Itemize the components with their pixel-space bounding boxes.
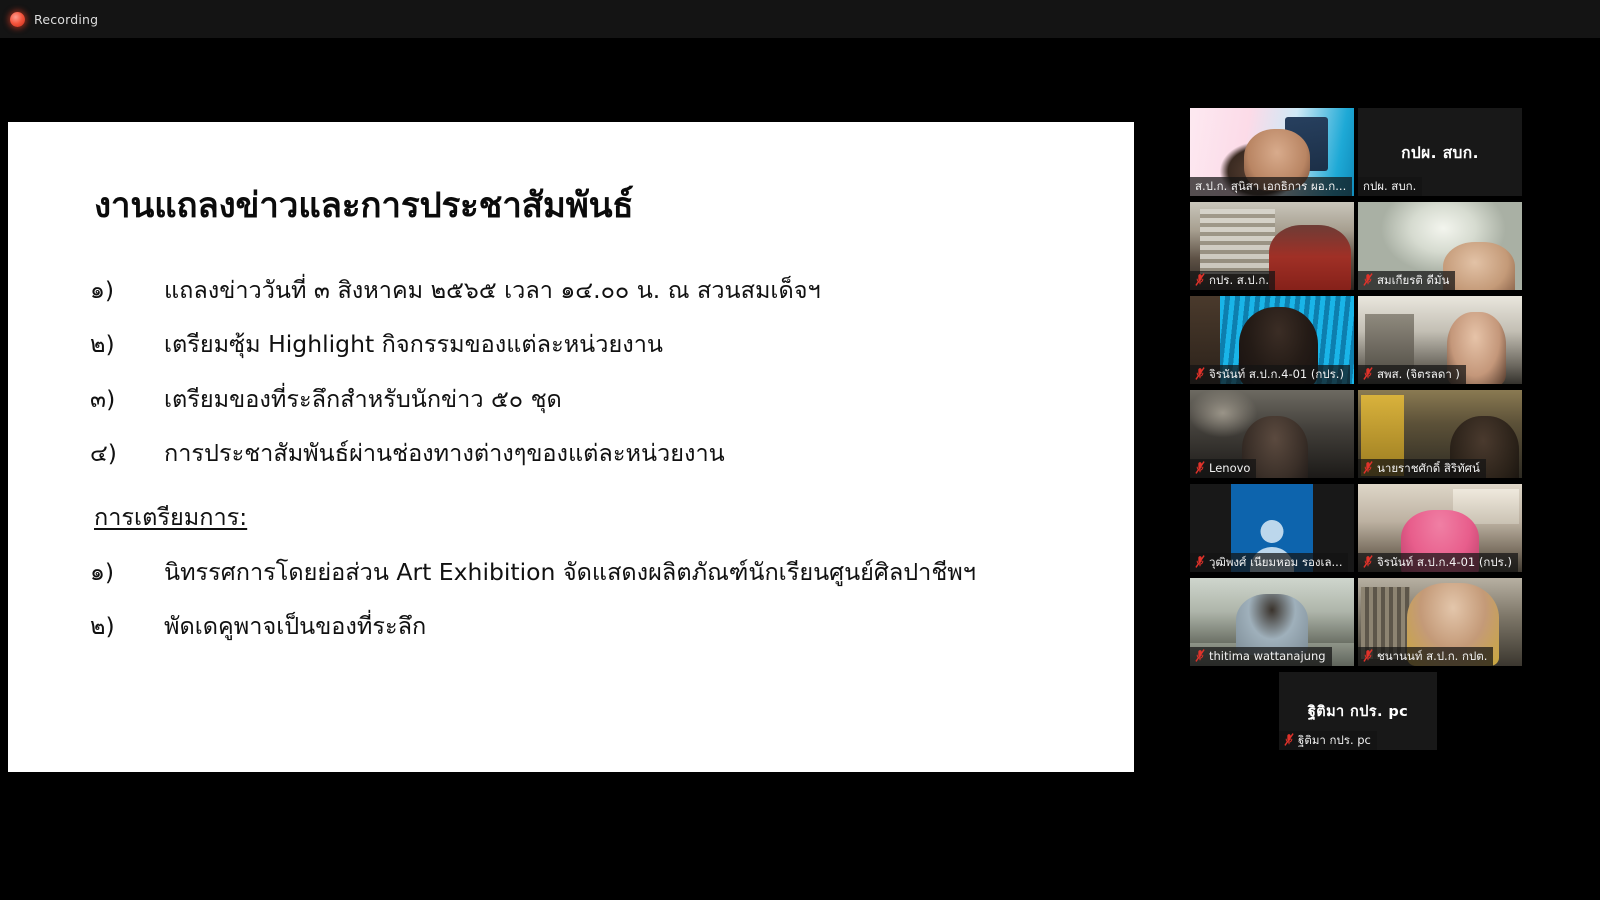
participant-tile-row: กปร. ส.ป.ก.สมเกียรติ ดีมั่น — [1190, 202, 1526, 290]
participant-name: ฐิติมา กปร. pc — [1298, 733, 1371, 747]
participant-tile[interactable]: นายราชศักดิ์ สิริทัศน์ — [1358, 390, 1522, 478]
participant-tile[interactable]: จิรนันท์ ส.ป.ก.4-01 (กปร.) — [1358, 484, 1522, 572]
participant-name-strip: สมเกียรติ ดีมั่น — [1358, 271, 1455, 290]
mic-muted-icon — [1195, 461, 1205, 474]
participant-tile[interactable]: สพส. (จิตรลดา ) — [1358, 296, 1522, 384]
participant-name: ชนานนท์ ส.ป.ก. กปต. — [1377, 649, 1487, 663]
slide-bullet-item: ๒) เตรียมซุ้ม Highlight กิจกรรมของแต่ละห… — [90, 329, 1082, 360]
participant-name-strip: ฐิติมา กปร. pc — [1279, 731, 1377, 750]
slide-bullet-item: ๑) นิทรรศการโดยย่อส่วน Art Exhibition จั… — [90, 557, 1082, 588]
mic-muted-icon — [1195, 367, 1205, 380]
bullet-text: แถลงข่าววันที่ ๓ สิงหาคม ๒๕๖๕ เวลา ๑๔.๐๐… — [164, 275, 1082, 306]
bullet-text: การประชาสัมพันธ์ผ่านช่องทางต่างๆของแต่ละ… — [164, 438, 1082, 469]
mic-muted-icon — [1363, 555, 1373, 568]
slide-bullet-item: ๔) การประชาสัมพันธ์ผ่านช่องทางต่างๆของแต… — [90, 438, 1082, 469]
participant-name: จิรนันท์ ส.ป.ก.4-01 (กปร.) — [1377, 555, 1512, 569]
participant-tile[interactable]: กปผ. สบก.กปผ. สบก. — [1358, 108, 1522, 196]
recording-indicator-bar: Recording — [0, 0, 1600, 38]
meeting-window: Recording งานแถลงข่าวและการประชาสัมพันธ์… — [0, 0, 1600, 900]
slide-title: งานแถลงข่าวและการประชาสัมพันธ์ — [94, 184, 1082, 229]
bullet-marker: ๓) — [90, 384, 164, 415]
bullet-marker: ๑) — [90, 557, 164, 588]
mic-muted-icon — [1363, 273, 1373, 286]
shared-screen-region[interactable]: งานแถลงข่าวและการประชาสัมพันธ์ ๑) แถลงข่… — [8, 122, 1134, 772]
participant-tile[interactable]: วุฒิพงศ์ เนียมหอม รองเล... — [1190, 484, 1354, 572]
mic-muted-icon — [1363, 367, 1373, 380]
mic-muted-icon — [1363, 461, 1373, 474]
mic-muted-icon — [1363, 649, 1373, 662]
participant-name: กปร. ส.ป.ก. — [1209, 273, 1269, 287]
bullet-marker: ๑) — [90, 275, 164, 306]
bullet-marker: ๔) — [90, 438, 164, 469]
participant-tile-row: thitima wattanajungชนานนท์ ส.ป.ก. กปต. — [1190, 578, 1526, 666]
mic-muted-icon — [1195, 649, 1205, 662]
participant-name: กปผ. สบก. — [1363, 179, 1416, 193]
participant-tile[interactable]: ฐิติมา กปร. pcฐิติมา กปร. pc — [1279, 672, 1437, 750]
mic-muted-icon — [1284, 733, 1294, 746]
participant-name-strip: กปร. ส.ป.ก. — [1190, 271, 1275, 290]
participant-tile-row: Lenovoนายราชศักดิ์ สิริทัศน์ — [1190, 390, 1526, 478]
bullet-text: เตรียมซุ้ม Highlight กิจกรรมของแต่ละหน่ว… — [164, 329, 1082, 360]
participant-tile[interactable]: ชนานนท์ ส.ป.ก. กปต. — [1358, 578, 1522, 666]
slide-bullet-item: ๑) แถลงข่าววันที่ ๓ สิงหาคม ๒๕๖๕ เวลา ๑๔… — [90, 275, 1082, 306]
participant-tile[interactable]: กปร. ส.ป.ก. — [1190, 202, 1354, 290]
slide-section-heading: การเตรียมการ: — [94, 499, 247, 536]
participant-name: Lenovo — [1209, 461, 1250, 475]
participant-tile-row: ส.ป.ก. สุนิสา เอกธิการ ผอ.ก...กปผ. สบก.ก… — [1190, 108, 1526, 196]
slide-bullet-item: ๒) พัดเดคูพาจเป็นของที่ระลึก — [90, 611, 1082, 642]
participant-tile[interactable]: สมเกียรติ ดีมั่น — [1358, 202, 1522, 290]
bullet-marker: ๒) — [90, 329, 164, 360]
participant-name: thitima wattanajung — [1209, 649, 1326, 663]
participant-tile-row: จิรนันท์ ส.ป.ก.4-01 (กปร.)สพส. (จิตรลดา … — [1190, 296, 1526, 384]
participant-name-strip: จิรนันท์ ส.ป.ก.4-01 (กปร.) — [1358, 553, 1518, 572]
participant-name-strip: จิรนันท์ ส.ป.ก.4-01 (กปร.) — [1190, 365, 1350, 384]
participant-name-strip: วุฒิพงศ์ เนียมหอม รองเล... — [1190, 553, 1348, 572]
mic-muted-icon — [1195, 555, 1205, 568]
recording-dot-icon — [10, 12, 25, 27]
participant-name: สพส. (จิตรลดา ) — [1377, 367, 1460, 381]
participant-tile-grid: ส.ป.ก. สุนิสา เอกธิการ ผอ.ก...กปผ. สบก.ก… — [1190, 108, 1526, 666]
slide-bullet-item: ๓) เตรียมของที่ระลึกสำหรับนักข่าว ๕๐ ชุด — [90, 384, 1082, 415]
participant-name: สมเกียรติ ดีมั่น — [1377, 273, 1449, 287]
participant-gallery[interactable]: ส.ป.ก. สุนิสา เอกธิการ ผอ.ก...กปผ. สบก.ก… — [1190, 108, 1526, 788]
mic-muted-icon — [1195, 273, 1205, 286]
participant-name-strip: Lenovo — [1190, 459, 1256, 478]
participant-name-strip: กปผ. สบก. — [1358, 177, 1422, 196]
presentation-slide: งานแถลงข่าวและการประชาสัมพันธ์ ๑) แถลงข่… — [8, 122, 1134, 772]
participant-name-strip: นายราชศักดิ์ สิริทัศน์ — [1358, 459, 1486, 478]
participant-tile[interactable]: Lenovo — [1190, 390, 1354, 478]
participant-name: วุฒิพงศ์ เนียมหอม รองเล... — [1209, 555, 1342, 569]
participant-tile-row-last: ฐิติมา กปร. pcฐิติมา กปร. pc — [1190, 672, 1526, 750]
bullet-marker: ๒) — [90, 611, 164, 642]
participant-tile[interactable]: ส.ป.ก. สุนิสา เอกธิการ ผอ.ก... — [1190, 108, 1354, 196]
bullet-text: พัดเดคูพาจเป็นของที่ระลึก — [164, 611, 1082, 642]
slide-preparation-list: ๑) นิทรรศการโดยย่อส่วน Art Exhibition จั… — [90, 557, 1082, 643]
recording-label: Recording — [34, 12, 98, 27]
participant-name: นายราชศักดิ์ สิริทัศน์ — [1377, 461, 1480, 475]
participant-tile-row: วุฒิพงศ์ เนียมหอม รองเล...จิรนันท์ ส.ป.ก… — [1190, 484, 1526, 572]
slide-bullet-list: ๑) แถลงข่าววันที่ ๓ สิงหาคม ๒๕๖๕ เวลา ๑๔… — [90, 275, 1082, 470]
bullet-text: เตรียมของที่ระลึกสำหรับนักข่าว ๕๐ ชุด — [164, 384, 1082, 415]
participant-name: ส.ป.ก. สุนิสา เอกธิการ ผอ.ก... — [1195, 179, 1346, 193]
participant-name: จิรนันท์ ส.ป.ก.4-01 (กปร.) — [1209, 367, 1344, 381]
participant-name-strip: ส.ป.ก. สุนิสา เอกธิการ ผอ.ก... — [1190, 177, 1352, 196]
participant-name-strip: สพส. (จิตรลดา ) — [1358, 365, 1466, 384]
participant-name-strip: ชนานนท์ ส.ป.ก. กปต. — [1358, 647, 1493, 666]
bullet-text: นิทรรศการโดยย่อส่วน Art Exhibition จัดแส… — [164, 557, 1082, 588]
participant-tile[interactable]: จิรนันท์ ส.ป.ก.4-01 (กปร.) — [1190, 296, 1354, 384]
participant-tile[interactable]: thitima wattanajung — [1190, 578, 1354, 666]
participant-name-strip: thitima wattanajung — [1190, 647, 1332, 666]
